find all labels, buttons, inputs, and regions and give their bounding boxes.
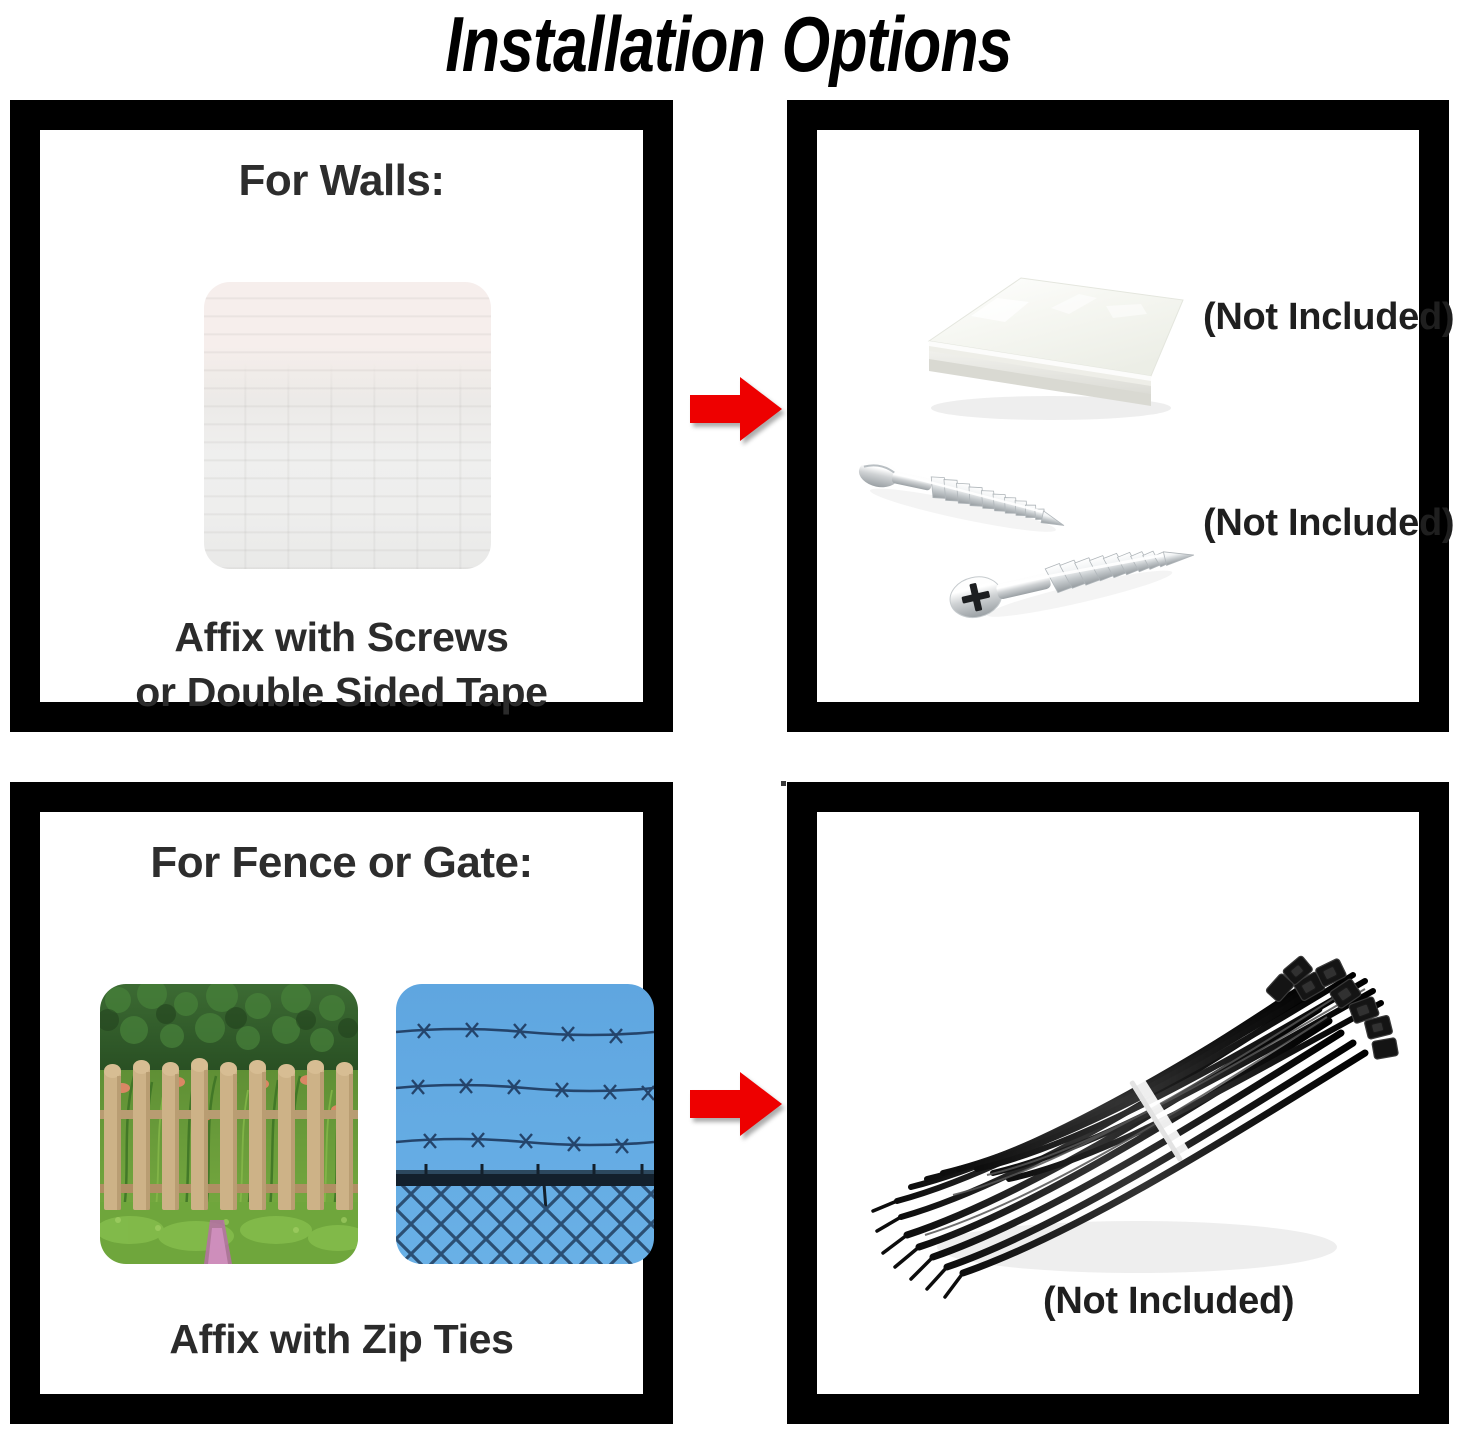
- tape-not-included-label: (Not Included): [1203, 296, 1454, 339]
- black-zip-tie-bundle-image: [867, 917, 1427, 1317]
- panel-for-walls: For Walls: Affix with Screws or Double S…: [10, 100, 673, 732]
- chain-link-barbed-wire-fence-photo: [396, 984, 654, 1264]
- fence-photo-pair: [100, 984, 670, 1264]
- image-artifact-speck: [781, 781, 786, 786]
- for-fence-or-gate-heading: For Fence or Gate:: [40, 838, 643, 888]
- fence-caption: Affix with Zip Ties: [40, 1312, 643, 1367]
- zipties-not-included-label: (Not Included): [1043, 1280, 1294, 1323]
- wood-screws-image: [847, 450, 1227, 650]
- screws-not-included-label: (Not Included): [1203, 502, 1454, 545]
- walls-caption-line-2: or Double Sided Tape: [40, 665, 643, 720]
- for-walls-heading: For Walls:: [40, 156, 643, 206]
- panel-fence-hardware: (Not Included): [787, 782, 1449, 1424]
- wooden-picket-fence-photo: [100, 984, 358, 1264]
- red-right-arrow-icon: [688, 373, 784, 445]
- white-brick-wall-photo: [204, 282, 491, 569]
- double-sided-tape-stack-image: [901, 248, 1201, 428]
- page-title: Installation Options: [146, 2, 1312, 86]
- red-right-arrow-icon-bottom: [688, 1068, 784, 1140]
- walls-caption: Affix with Screws or Double Sided Tape: [40, 610, 643, 721]
- panel-for-fence-or-gate: For Fence or Gate:: [10, 782, 673, 1424]
- walls-caption-line-1: Affix with Screws: [40, 610, 643, 665]
- panel-wall-hardware: (Not Included): [787, 100, 1449, 732]
